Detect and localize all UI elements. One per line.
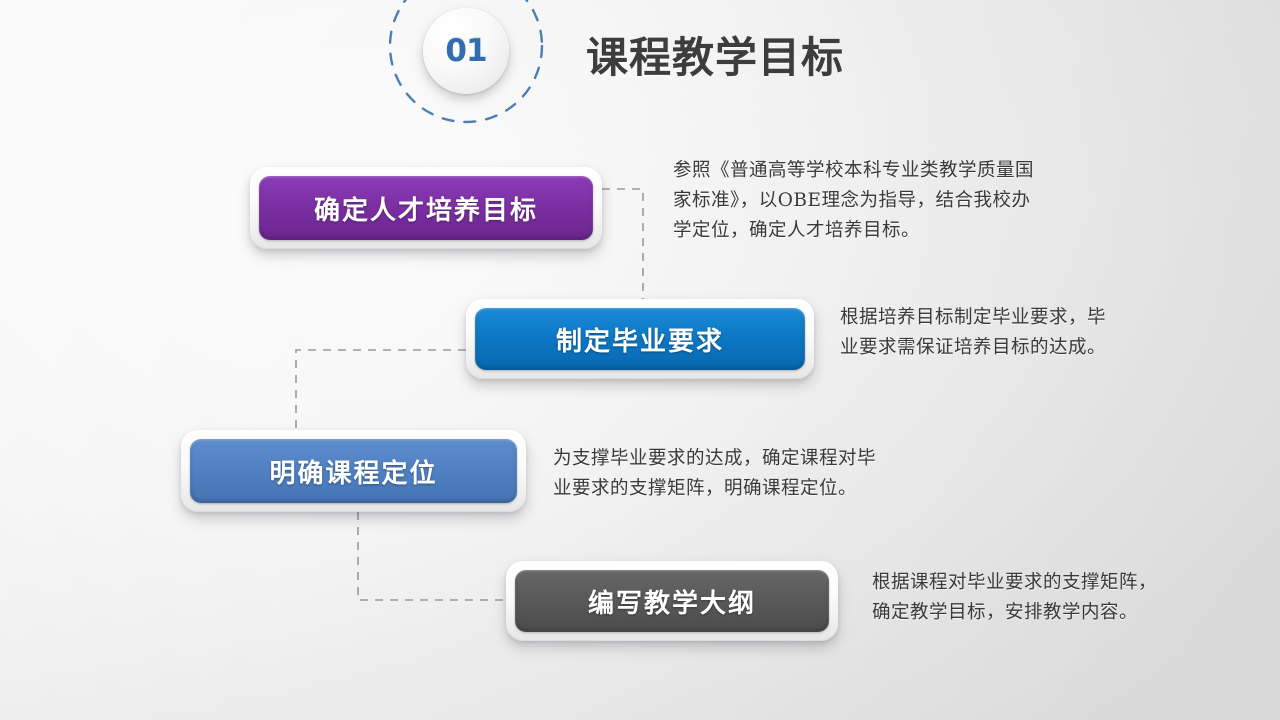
step-box-3-fill: 明确课程定位 [190,439,517,503]
step-box-4-fill: 编写教学大纲 [515,570,829,632]
step-1-desc-line-1: 参照《普通高等学校本科专业类教学质量国 [673,156,1103,186]
connector-step2-step3 [296,350,466,431]
step-1-desc-line-2: 家标准》，以OBE理念为指导，结合我校办 [673,186,1103,216]
step-4-desc-line-1: 根据课程对毕业要求的支撑矩阵， [872,568,1212,598]
step-box-2-fill: 制定毕业要求 [475,308,805,370]
badge-number: 01 [445,33,486,69]
badge-circle: 01 [423,8,509,94]
step-box-1-fill: 确定人才培养目标 [259,176,593,240]
slide-header: 01 课程教学目标 [0,0,1280,110]
step-box-4-label: 编写教学大纲 [588,583,756,620]
step-box-3-label: 明确课程定位 [269,453,437,490]
step-box-2-label: 制定毕业要求 [556,321,724,358]
step-3-desc-line-2: 业要求的支撑矩阵，明确课程定位。 [553,474,953,504]
step-2-description: 根据培养目标制定毕业要求，毕 业要求需保证培养目标的达成。 [840,303,1170,363]
step-box-2[interactable]: 制定毕业要求 [466,299,814,379]
step-box-1-label: 确定人才培养目标 [314,190,538,227]
connector-step3-step4 [358,512,506,600]
step-3-description: 为支撑毕业要求的达成，确定课程对毕 业要求的支撑矩阵，明确课程定位。 [553,444,953,504]
step-4-desc-line-2: 确定教学目标，安排教学内容。 [872,598,1212,628]
step-2-desc-line-1: 根据培养目标制定毕业要求，毕 [840,303,1170,333]
step-badge: 01 [418,0,514,92]
connector-step1-step2 [602,189,643,300]
step-3-desc-line-1: 为支撑毕业要求的达成，确定课程对毕 [553,444,953,474]
slide: 01 课程教学目标 确定人才培养目标 参照《普通高等学校本科专业类教学质量国 家… [0,0,1280,720]
step-1-description: 参照《普通高等学校本科专业类教学质量国 家标准》，以OBE理念为指导，结合我校办… [673,156,1103,246]
step-box-1[interactable]: 确定人才培养目标 [250,167,602,249]
step-2-desc-line-2: 业要求需保证培养目标的达成。 [840,333,1170,363]
step-box-3[interactable]: 明确课程定位 [181,430,526,512]
page-title: 课程教学目标 [586,24,844,85]
step-4-description: 根据课程对毕业要求的支撑矩阵， 确定教学目标，安排教学内容。 [872,568,1212,628]
step-box-4[interactable]: 编写教学大纲 [506,561,838,641]
step-1-desc-line-3: 学定位，确定人才培养目标。 [673,216,1103,246]
